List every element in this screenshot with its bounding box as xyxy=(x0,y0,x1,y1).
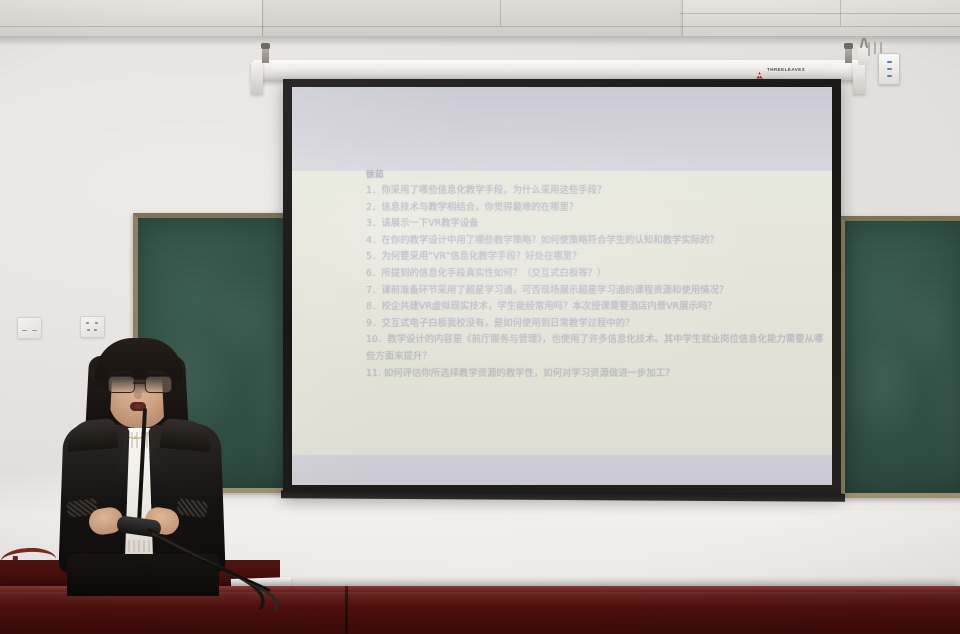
casing-end-left xyxy=(251,62,263,94)
threeleaves-logo-icon xyxy=(755,65,764,74)
slide-line: 11. 如何评估你所选择教学资源的教学性，如何对学习资源做进一步加工？ xyxy=(366,366,826,383)
slide-line: 2．信息技术与教学相结合，你觉得最难的在哪里？ xyxy=(366,200,826,217)
slide-line: 5．为何要采用“VR”信息化教学手段？好处在哪里？ xyxy=(366,249,826,266)
screen-up-button[interactable] xyxy=(887,61,892,63)
casing-bracket-right xyxy=(845,47,852,63)
ceiling xyxy=(0,0,960,40)
slide-title: 徐茹 xyxy=(366,169,826,182)
chalk-smudge xyxy=(845,221,960,493)
slide-line: 4．在你的教学设计中用了哪些教学策略？如何使策略符合学生的认知和教学实际的？ xyxy=(366,233,826,250)
ceiling-seam xyxy=(682,0,683,40)
microphone-cable xyxy=(45,332,375,612)
slide-line: 9．交互式电子白板我校没有，是如何使用到日常教学过程中的？ xyxy=(366,316,826,333)
green-chalkboard-right xyxy=(840,216,960,498)
control-wire xyxy=(874,42,876,54)
projector-brand: THREELEAVES xyxy=(755,65,805,74)
screen-stop-button[interactable] xyxy=(887,68,892,70)
ceiling-seam xyxy=(262,0,263,40)
ceiling-seam xyxy=(680,13,960,14)
casing-end-right xyxy=(853,62,865,94)
screen-control-box[interactable] xyxy=(878,53,900,85)
screen-down-button[interactable] xyxy=(887,75,892,77)
slide-line: 8．校企共建VR虚拟现实技术，学生能经常用吗？本次授课需要酒店内景VR展示吗？ xyxy=(366,299,826,316)
ceiling-seam xyxy=(0,26,960,27)
classroom-scene: THREELEAVES 徐茹 1．你采用了哪些信息化教学手段，为什么采用这些手段… xyxy=(0,0,960,634)
wall-top-shadow xyxy=(0,36,960,46)
slide-line: 3．请展示一下VR教学设备 xyxy=(366,216,826,233)
slide-text-block: 徐茹 1．你采用了哪些信息化教学手段，为什么采用这些手段？ 2．信息技术与教学相… xyxy=(366,169,826,382)
slide-line: 1．你采用了哪些信息化教学手段，为什么采用这些手段？ xyxy=(366,183,826,200)
control-wire xyxy=(868,42,870,56)
casing-bracket-left xyxy=(262,47,269,63)
wall-blank-plate xyxy=(17,317,42,339)
brand-label: THREELEAVES xyxy=(767,67,805,72)
slide-line: 6．所提到的信息化手段真实性如何？（交互式白板等？） xyxy=(366,266,826,283)
slide-line: 7．课前准备环节采用了超星学习通，可否现场展示超星学习通的课程资源和使用情况？ xyxy=(366,283,826,300)
slide-line: 10．教学设计的内容是《前厅服务与管理》，也使用了许多信息化技术。其中学生就业岗… xyxy=(366,332,826,365)
ceiling-seam xyxy=(500,0,501,26)
ceiling-drop-panel xyxy=(262,0,682,40)
